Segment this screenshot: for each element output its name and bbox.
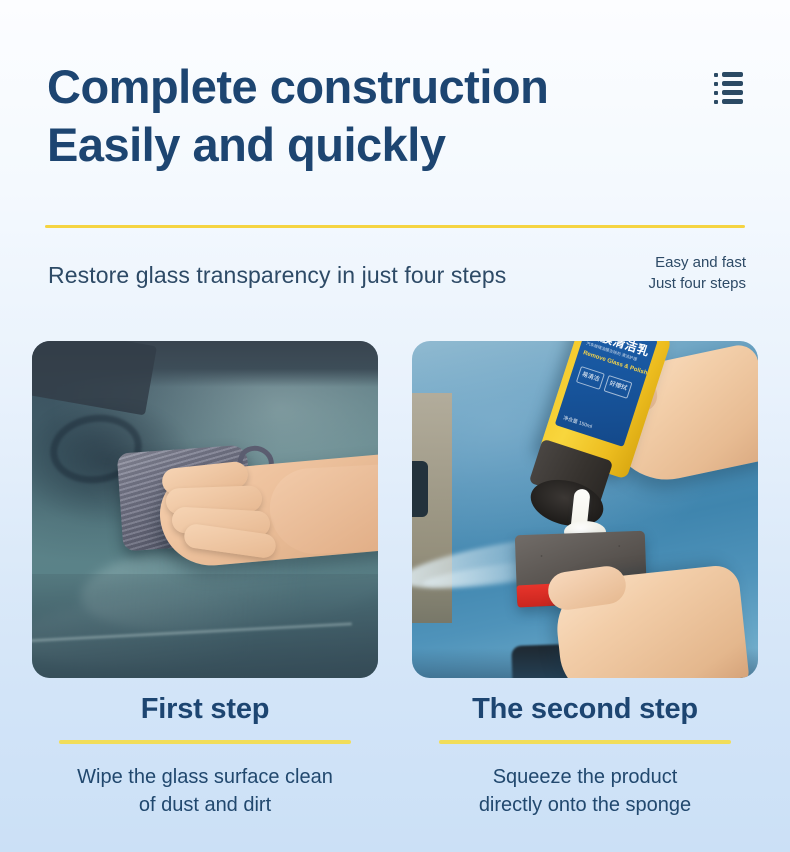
list-icon-line (722, 72, 743, 77)
list-icon-line (722, 99, 743, 104)
step-1-description-line-2: of dust and dirt (32, 791, 378, 819)
tagline: Easy and fast Just four steps (648, 252, 746, 294)
step-2-photo: 油膜清洁乳 汽车玻璃油膜去除剂 清洁护理 Remove Glass & Poli… (412, 341, 758, 678)
list-icon-bullet (714, 91, 718, 95)
list-icon-bullet (714, 73, 718, 77)
step-1-photo (32, 341, 378, 678)
step-2-description-line-2: directly onto the sponge (412, 791, 758, 819)
page-header: Complete construction Easily and quickly (0, 0, 790, 210)
step-1-caption: First step Wipe the glass surface clean … (32, 690, 378, 819)
list-icon-row (714, 99, 744, 104)
step-1-underline (59, 740, 351, 744)
page-title-line-2: Easily and quickly (47, 116, 548, 174)
list-icon-bullet (714, 82, 718, 86)
list-icon-line (722, 81, 743, 86)
list-icon[interactable] (714, 72, 744, 104)
step-1-description: Wipe the glass surface clean of dust and… (32, 763, 378, 819)
hand-knuckles (268, 464, 378, 557)
list-icon-row (714, 72, 744, 77)
step-1-description-line-1: Wipe the glass surface clean (32, 763, 378, 791)
page-title-line-1: Complete construction (47, 58, 548, 116)
step-2-title: The second step (412, 690, 758, 728)
step-2-description: Squeeze the product directly onto the sp… (412, 763, 758, 819)
step-2-underline (439, 740, 731, 744)
step-captions: First step Wipe the glass surface clean … (0, 690, 790, 852)
step-1-title: First step (32, 690, 378, 728)
tagline-line-2: Just four steps (648, 273, 746, 294)
list-icon-bullet (714, 100, 718, 104)
tagline-line-1: Easy and fast (648, 252, 746, 273)
product-feature-chip-1: 易清洁 (576, 366, 605, 390)
list-icon-row (714, 81, 744, 86)
product-feature-chip-2: 好擦拭 (603, 375, 632, 399)
header-divider (45, 225, 745, 228)
list-icon-line (722, 90, 743, 95)
step-photos: 油膜清洁乳 汽车玻璃油膜去除剂 清洁护理 Remove Glass & Poli… (0, 341, 790, 678)
subtitle: Restore glass transparency in just four … (48, 262, 506, 289)
product-size: 净含量 150ml (562, 414, 593, 430)
car-trim-dark (412, 461, 428, 517)
list-icon-row (714, 90, 744, 95)
page-title: Complete construction Easily and quickly (47, 58, 548, 174)
step-2-description-line-1: Squeeze the product (412, 763, 758, 791)
step-2-caption: The second step Squeeze the product dire… (412, 690, 758, 819)
